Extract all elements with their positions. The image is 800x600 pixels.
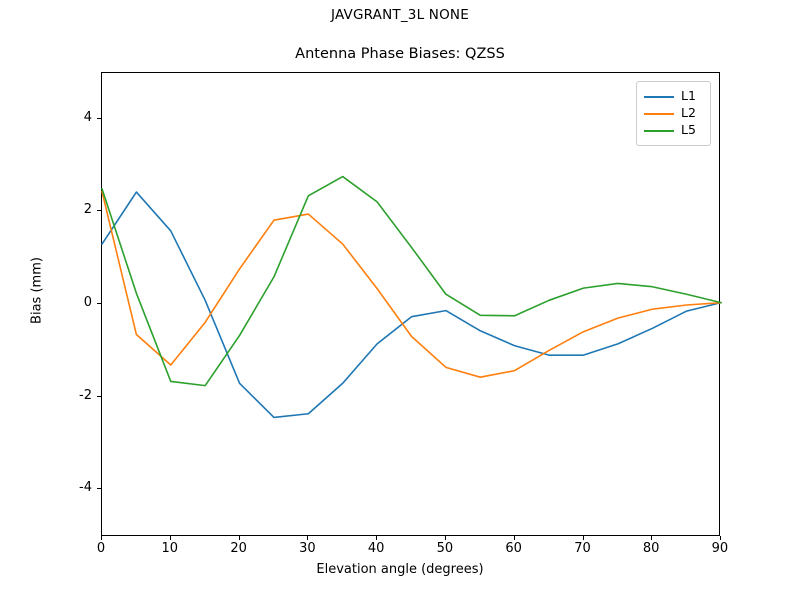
ytick-mark: [97, 396, 101, 397]
ytick-mark: [97, 210, 101, 211]
legend: L1 L2 L5: [636, 81, 711, 146]
ytick-label: -2: [52, 388, 92, 403]
xtick-label: 20: [219, 541, 259, 556]
xtick-mark: [170, 536, 171, 540]
legend-label-l5: L5: [681, 124, 696, 137]
legend-item-l2: L2: [644, 105, 703, 122]
ytick-label: 2: [52, 202, 92, 217]
legend-color-swatch-l1: [644, 96, 674, 98]
legend-label-l2: L2: [681, 107, 696, 120]
xtick-mark: [239, 536, 240, 540]
ytick-label: 4: [52, 110, 92, 125]
xtick-mark: [307, 536, 308, 540]
axes-title: Antenna Phase Biases: QZSS: [0, 46, 800, 62]
figure-suptitle: JAVGRANT_3L NONE: [0, 7, 800, 23]
ytick-label: -4: [52, 480, 92, 495]
xtick-mark: [651, 536, 652, 540]
ytick-mark: [97, 488, 101, 489]
ytick-mark: [97, 118, 101, 119]
figure: JAVGRANT_3L NONE Antenna Phase Biases: Q…: [0, 0, 800, 600]
xtick-label: 0: [81, 541, 121, 556]
legend-item-l5: L5: [644, 122, 703, 139]
xtick-mark: [445, 536, 446, 540]
xtick-label: 40: [356, 541, 396, 556]
xtick-label: 10: [150, 541, 190, 556]
legend-item-l1: L1: [644, 88, 703, 105]
plot-area: [101, 72, 720, 536]
ytick-label: 0: [52, 295, 92, 310]
xtick-label: 30: [287, 541, 327, 556]
y-axis-label: Bias (mm): [30, 91, 45, 491]
xtick-label: 70: [563, 541, 603, 556]
x-axis-label: Elevation angle (degrees): [0, 562, 800, 577]
legend-color-swatch-l5: [644, 130, 674, 132]
xtick-mark: [514, 536, 515, 540]
xtick-label: 60: [494, 541, 534, 556]
xtick-label: 90: [700, 541, 740, 556]
xtick-label: 50: [425, 541, 465, 556]
xtick-label: 80: [631, 541, 671, 556]
xtick-mark: [101, 536, 102, 540]
ytick-mark: [97, 303, 101, 304]
xtick-mark: [720, 536, 721, 540]
data-lines: [102, 73, 721, 537]
legend-color-swatch-l2: [644, 113, 674, 115]
legend-label-l1: L1: [681, 90, 696, 103]
xtick-mark: [583, 536, 584, 540]
xtick-mark: [376, 536, 377, 540]
